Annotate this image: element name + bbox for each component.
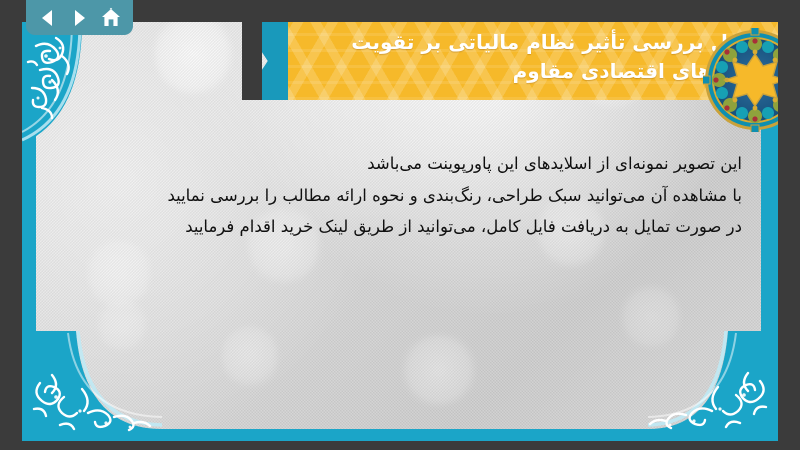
frame-border-bottom	[22, 429, 778, 441]
slide-title-line-2: بنیان‌های اقتصادی مقاوم	[290, 57, 760, 86]
presentation-viewer: کامل بررسی تأثیر نظام مالیاتی بر تقویت ب…	[0, 0, 800, 450]
next-slide-button[interactable]	[66, 6, 92, 30]
home-icon	[100, 7, 122, 29]
slide-title-banner: کامل بررسی تأثیر نظام مالیاتی بر تقویت ب…	[242, 22, 778, 100]
persian-medallion-icon	[703, 28, 778, 132]
title-banner-notch	[242, 22, 262, 100]
slide-navigation-bar	[26, 0, 133, 35]
slide-canvas[interactable]: کامل بررسی تأثیر نظام مالیاتی بر تقویت ب…	[22, 22, 778, 441]
body-text-line-1: این تصویر نمونه‌ای از اسلایدهای این پاور…	[142, 148, 742, 180]
previous-slide-button[interactable]	[35, 6, 61, 30]
triangle-left-icon	[38, 8, 58, 28]
body-text-line-3: در صورت تمایل به دریافت فایل کامل، می‌تو…	[142, 211, 742, 243]
body-text-line-2: با مشاهده آن می‌توانید سبک طراحی، رنگ‌بن…	[142, 180, 742, 212]
slide-title: کامل بررسی تأثیر نظام مالیاتی بر تقویت ب…	[290, 28, 760, 86]
slide-body-text: این تصویر نمونه‌ای از اسلایدهای این پاور…	[142, 148, 742, 243]
slide-title-line-1: کامل بررسی تأثیر نظام مالیاتی بر تقویت	[290, 28, 760, 57]
home-button[interactable]	[98, 6, 124, 30]
frame-border-left	[22, 22, 36, 441]
persian-medallion-ornament	[703, 28, 778, 132]
triangle-right-icon	[69, 8, 89, 28]
